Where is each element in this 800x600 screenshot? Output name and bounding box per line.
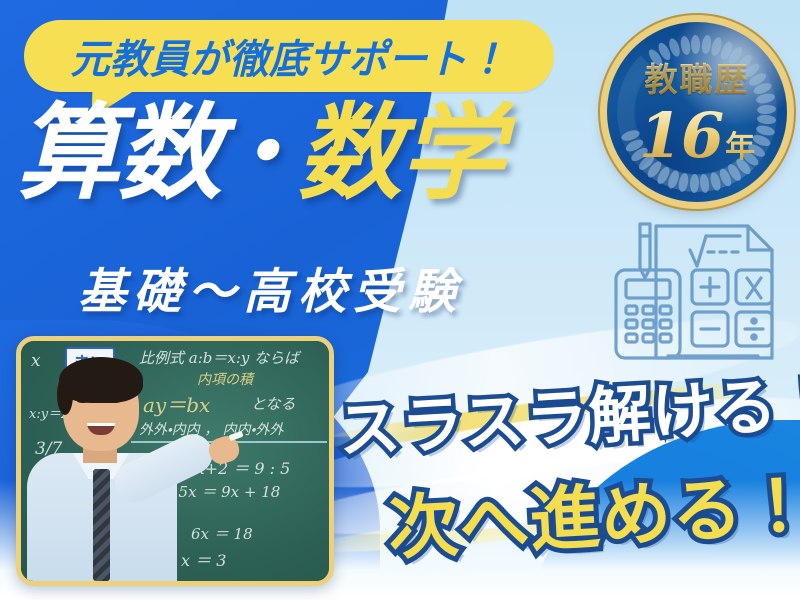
chalkboard-side-1: x [31, 351, 41, 371]
teacher-necktie [93, 469, 110, 581]
promo-banner: 元教員が徹底サポート！ 算数 ・ 数学 基礎〜高校受験 教職歴 16 年 x x… [0, 0, 800, 600]
chalkboard-line-3b: となる [251, 393, 296, 414]
badge-label: 教職歴 [645, 53, 750, 101]
teacher-eye-right [109, 399, 121, 403]
teacher-sideburn [57, 375, 73, 415]
chalkboard-line-7: 6x ＝ 18 [191, 523, 253, 544]
experience-badge: 教職歴 16 年 [607, 22, 787, 202]
teacher-eye-left [77, 399, 89, 403]
catch-copy-line-2: 次へ進める！ [386, 470, 800, 564]
badge-number: 16 [639, 99, 723, 172]
chalkboard-line-6: 15x ＝ 9x + 18 [169, 481, 280, 502]
teacher-photo: x x:y＝2 3/7 比例式 a:b＝x:y ならば 内項の積 ay＝bx と… [16, 336, 334, 586]
badge-unit: 年 [725, 122, 755, 166]
chalkboard-line-3: ay＝bx [143, 389, 210, 418]
chalkboard-line-1: 比例式 a:b＝x:y ならば [139, 347, 299, 368]
headline-separator: ・ [216, 109, 302, 197]
chalkboard-line-8: x ＝ 3 [181, 547, 226, 571]
headline-part-sansuu: 算数 [16, 101, 220, 205]
chalkboard-line-4: 外外・内内 ， 内内・外外 [139, 419, 283, 439]
speech-bubble: 元教員が徹底サポート！ [24, 20, 554, 92]
page-subtitle: 基礎〜高校受験 [78, 252, 463, 322]
chalkboard-line-2: 内項の積 [197, 369, 253, 389]
headline-part-suugaku: 数学 [298, 101, 502, 205]
speech-bubble-text: 元教員が徹底サポート！ [71, 27, 508, 85]
page-title: 算数 ・ 数学 [16, 94, 636, 212]
badge-value: 16 年 [639, 99, 755, 172]
calculator-document-icon [608, 208, 784, 374]
